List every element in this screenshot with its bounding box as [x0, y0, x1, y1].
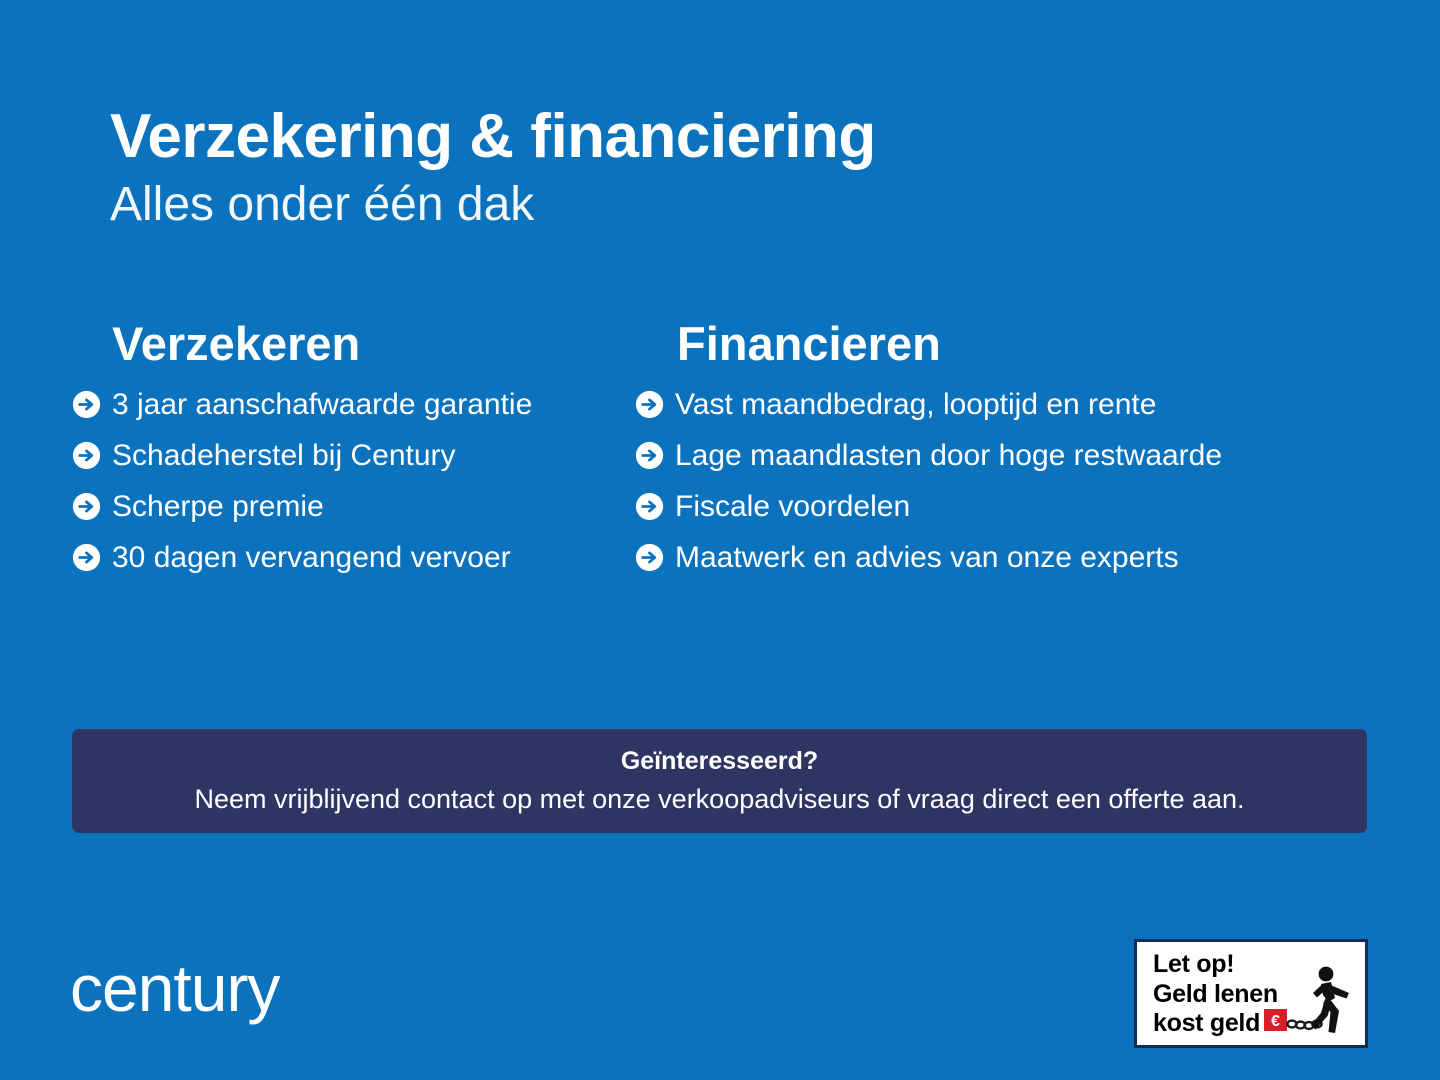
cta-title: Geïnteresseerd? — [621, 746, 818, 776]
warning-line-3: kost geld — [1153, 1009, 1278, 1039]
arrow-right-circle-icon — [72, 543, 101, 572]
list-item-label: 3 jaar aanschafwaarde garantie — [112, 388, 532, 421]
list-item: Scherpe premie — [72, 490, 635, 524]
column-verzekeren: Verzekeren 3 jaar aanschafwaarde garanti… — [0, 318, 635, 592]
arrow-right-circle-icon — [635, 543, 664, 572]
list-item: Maatwerk en advies van onze experts — [635, 541, 1440, 575]
list-item-label: Maatwerk en advies van onze experts — [675, 541, 1179, 574]
svg-text:€: € — [1271, 1013, 1280, 1030]
warning-line-1: Let op! — [1153, 950, 1278, 980]
list-item: 3 jaar aanschafwaarde garantie — [72, 388, 635, 422]
list-item-label: 30 dagen vervangend vervoer — [112, 541, 511, 574]
list-item-label: Lage maandlasten door hoge restwaarde — [675, 439, 1222, 472]
list-item-label: Schadeherstel bij Century — [112, 439, 456, 472]
column-heading-verzekeren: Verzekeren — [72, 318, 635, 370]
list-item-label: Vast maandbedrag, looptijd en rente — [675, 388, 1156, 421]
century-logo: century — [70, 955, 279, 1021]
feature-columns: Verzekeren 3 jaar aanschafwaarde garanti… — [0, 318, 1440, 592]
slide-root: Verzekering & financiering Alles onder é… — [0, 0, 1440, 1080]
list-item: Schadeherstel bij Century — [72, 439, 635, 473]
cta-text: Neem vrijblijvend contact op met onze ve… — [194, 783, 1244, 815]
header: Verzekering & financiering Alles onder é… — [110, 104, 1310, 232]
warning-line-2: Geld lenen — [1153, 980, 1278, 1010]
warning-badge-inner: Let op! Geld lenen kost geld € — [1137, 942, 1365, 1045]
list-item: Vast maandbedrag, looptijd en rente — [635, 388, 1440, 422]
arrow-right-circle-icon — [635, 441, 664, 470]
arrow-right-circle-icon — [635, 390, 664, 419]
list-item: 30 dagen vervangend vervoer — [72, 541, 635, 575]
page-title: Verzekering & financiering — [110, 104, 1310, 169]
page-subtitle: Alles onder één dak — [110, 177, 1310, 232]
warning-text: Let op! Geld lenen kost geld — [1153, 950, 1278, 1039]
warning-badge: Let op! Geld lenen kost geld € — [1134, 939, 1368, 1048]
list-item-label: Scherpe premie — [112, 490, 324, 523]
arrow-right-circle-icon — [635, 492, 664, 521]
list-item: Fiscale voordelen — [635, 490, 1440, 524]
arrow-right-circle-icon — [72, 390, 101, 419]
list-item: Lage maandlasten door hoge restwaarde — [635, 439, 1440, 473]
bullet-list-financieren: Vast maandbedrag, looptijd en rente Lage… — [635, 388, 1440, 575]
column-heading-financieren: Financieren — [635, 318, 1440, 370]
walking-person-euro-chain-icon: € — [1263, 965, 1359, 1039]
list-item-label: Fiscale voordelen — [675, 490, 910, 523]
cta-banner: Geïnteresseerd? Neem vrijblijvend contac… — [72, 729, 1367, 833]
arrow-right-circle-icon — [72, 492, 101, 521]
arrow-right-circle-icon — [72, 441, 101, 470]
column-financieren: Financieren Vast maandbedrag, looptijd e… — [635, 318, 1440, 592]
bullet-list-verzekeren: 3 jaar aanschafwaarde garantie Schadeher… — [72, 388, 635, 575]
